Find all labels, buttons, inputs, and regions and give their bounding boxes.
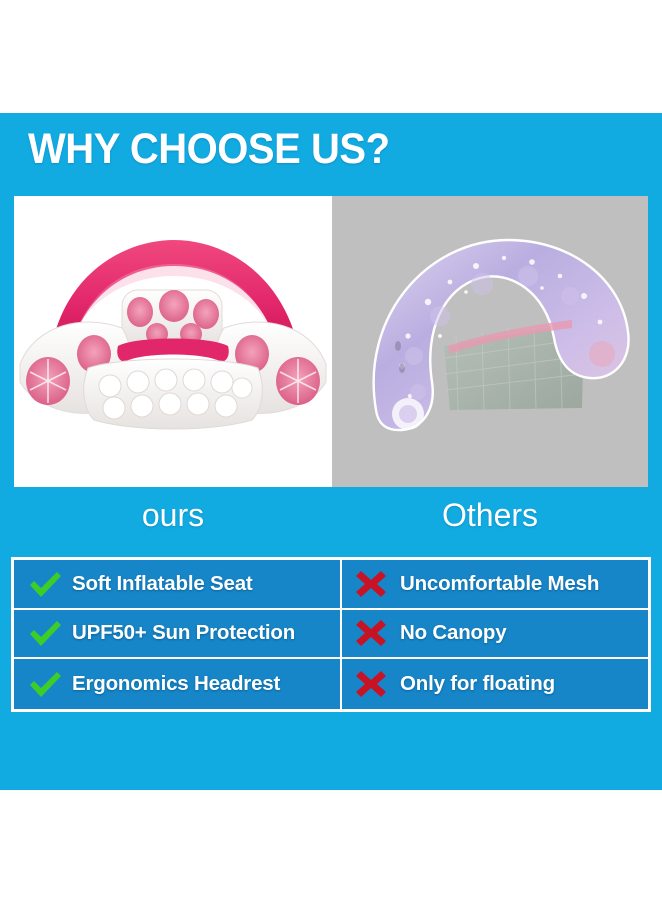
check-icon [26,567,64,601]
pink-canopy-pool-float-illustration [14,196,332,487]
table-row: Soft Inflatable Seat Uncomfortable Mesh [14,560,648,610]
cross-icon [352,667,390,701]
infographic-root: WHY CHOOSE US? [0,0,662,903]
caption-others: Others [332,493,648,537]
con-label: Uncomfortable Mesh [400,572,599,596]
others-product-photo [332,196,648,487]
photo-comparison-row [14,196,648,487]
page-title: WHY CHOOSE US? [28,124,390,174]
iridescent-mesh-pool-float-illustration [332,196,648,487]
table-row: UPF50+ Sun Protection No Canopy [14,610,648,660]
pro-cell: Ergonomics Headrest [14,659,342,709]
con-cell: Only for floating [342,659,648,709]
caption-ours: ours [14,493,332,537]
pro-label: Soft Inflatable Seat [72,572,253,596]
pro-label: Ergonomics Headrest [72,672,280,696]
con-label: No Canopy [400,621,506,645]
table-row: Ergonomics Headrest Only for floating [14,659,648,709]
column-captions: ours Others [14,493,648,539]
cross-icon [352,616,390,650]
pro-cell: Soft Inflatable Seat [14,560,342,608]
pro-cell: UPF50+ Sun Protection [14,610,342,658]
pro-label: UPF50+ Sun Protection [72,621,295,645]
con-label: Only for floating [400,672,555,696]
check-icon [26,667,64,701]
check-icon [26,616,64,650]
con-cell: Uncomfortable Mesh [342,560,648,608]
con-cell: No Canopy [342,610,648,658]
comparison-table: Soft Inflatable Seat Uncomfortable Mesh … [11,557,651,712]
ours-product-photo [14,196,332,487]
cross-icon [352,567,390,601]
